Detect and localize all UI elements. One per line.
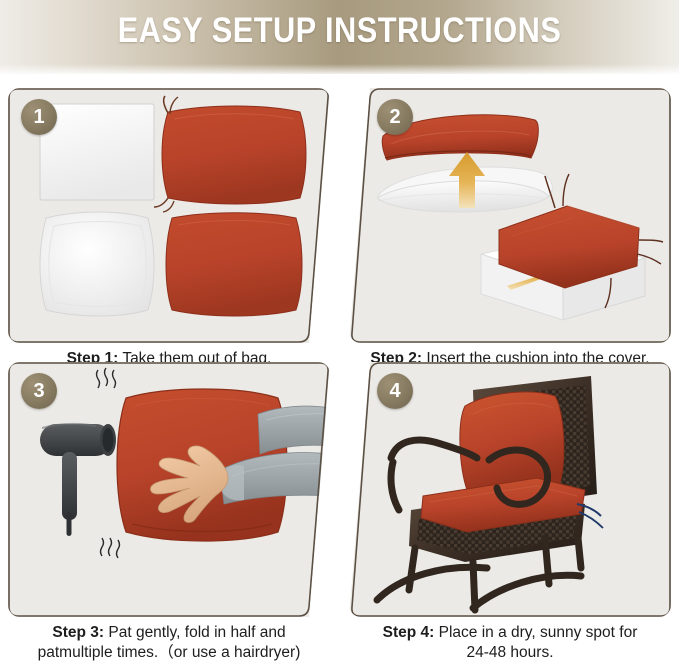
motion-lines-top: [97, 368, 116, 388]
step-caption-line1-3: Step 3: Pat gently, fold in half and: [8, 623, 330, 643]
step-caption-line1-4: Step 4: Place in a dry, sunny spot for: [349, 623, 671, 643]
step-caption-text-4: Place in a dry, sunny spot for: [439, 624, 638, 641]
pillow-insert-white: [40, 212, 154, 316]
step-caption-line2-3: patmultiple times.（or use a hairdryer): [8, 643, 330, 663]
steps-grid: 1 Step 1: Take them out of bag.: [0, 74, 679, 652]
foam-pad-white: [40, 104, 154, 200]
step-card-4[interactable]: 4 Step 4: Place in a dry, sunny spot for…: [349, 362, 671, 617]
step-caption-line2-4: 24-48 hours.: [349, 643, 671, 663]
motion-lines-bottom: [101, 538, 120, 558]
step-caption-label-4: Step 4:: [383, 624, 435, 641]
step-caption-label-3: Step 3:: [52, 624, 104, 641]
step-panel-3: [8, 362, 330, 617]
step-number-1: 1: [21, 99, 57, 135]
step-1-illustration: [8, 88, 330, 343]
cushion-cover-terracotta-top: [154, 96, 306, 212]
step-caption-text-3: Pat gently, fold in half and: [108, 624, 285, 641]
step-caption-3: Step 3: Pat gently, fold in half and pat…: [8, 623, 330, 663]
step-3-illustration: [8, 362, 330, 617]
step-card-2[interactable]: 2 Step 2: Insert the cushion into the co…: [349, 88, 671, 343]
step-card-1[interactable]: 1 Step 1: Take them out of bag.: [8, 88, 330, 343]
step-number-2: 2: [377, 99, 413, 135]
step-panel-1: [8, 88, 330, 343]
cushion-cover-terracotta-bottom: [166, 213, 302, 316]
header-banner: EASY SETUP INSTRUCTIONS: [0, 0, 679, 74]
step-number-4: 4: [377, 373, 413, 409]
hairdryer-icon: [40, 424, 116, 536]
step-card-3[interactable]: 3 Step 3: Pat gently, fold in half and p…: [8, 362, 330, 617]
step-number-3: 3: [21, 373, 57, 409]
page-title: EASY SETUP INSTRUCTIONS: [41, 11, 639, 51]
step-caption-4: Step 4: Place in a dry, sunny spot for 2…: [349, 623, 671, 663]
